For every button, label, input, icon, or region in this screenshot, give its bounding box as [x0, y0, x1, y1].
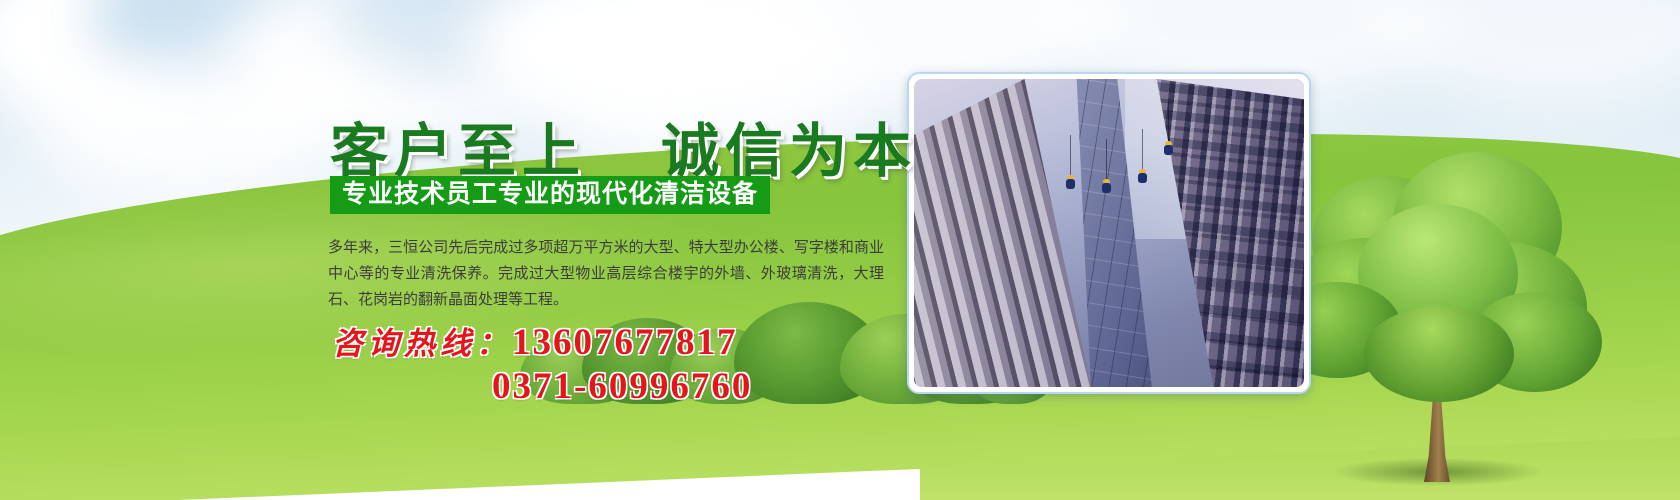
headline-part-1: 客户至上: [330, 119, 586, 184]
hotline-row-secondary: 0371-60996760: [492, 365, 752, 408]
hotline-row-primary: 咨询热线：13607677817: [332, 318, 752, 364]
building-photo: [914, 79, 1304, 387]
tree-canopy: [1272, 142, 1602, 400]
hotline-landline-number[interactable]: 0371-60996760: [492, 366, 752, 407]
subtitle-bar: 专业技术员工专业的现代化清洁设备: [330, 176, 770, 214]
subtitle-bar-label: 专业技术员工专业的现代化清洁设备: [342, 179, 758, 208]
rope-access-worker: [1066, 175, 1075, 189]
rope-access-worker: [1164, 141, 1173, 155]
body-paragraph: 多年来，三恒公司先后完成过多项超万平方米的大型、特大型办公楼、写字楼和商业中心等…: [328, 234, 884, 312]
rope-access-worker: [1102, 179, 1111, 193]
hotline-mobile-number[interactable]: 13607677817: [512, 322, 738, 363]
building-photo-frame[interactable]: [907, 72, 1311, 394]
hotline-label: 咨询热线：: [332, 326, 512, 361]
rope-access-worker: [1138, 169, 1147, 183]
tree-illustration: [1272, 142, 1602, 482]
tree-trunk: [1424, 390, 1450, 482]
headline-part-2: 诚信为本: [661, 119, 917, 184]
promo-banner: 客户至上 诚信为本 专业技术员工专业的现代化清洁设备 多年来，三恒公司先后完成过…: [0, 0, 1680, 500]
